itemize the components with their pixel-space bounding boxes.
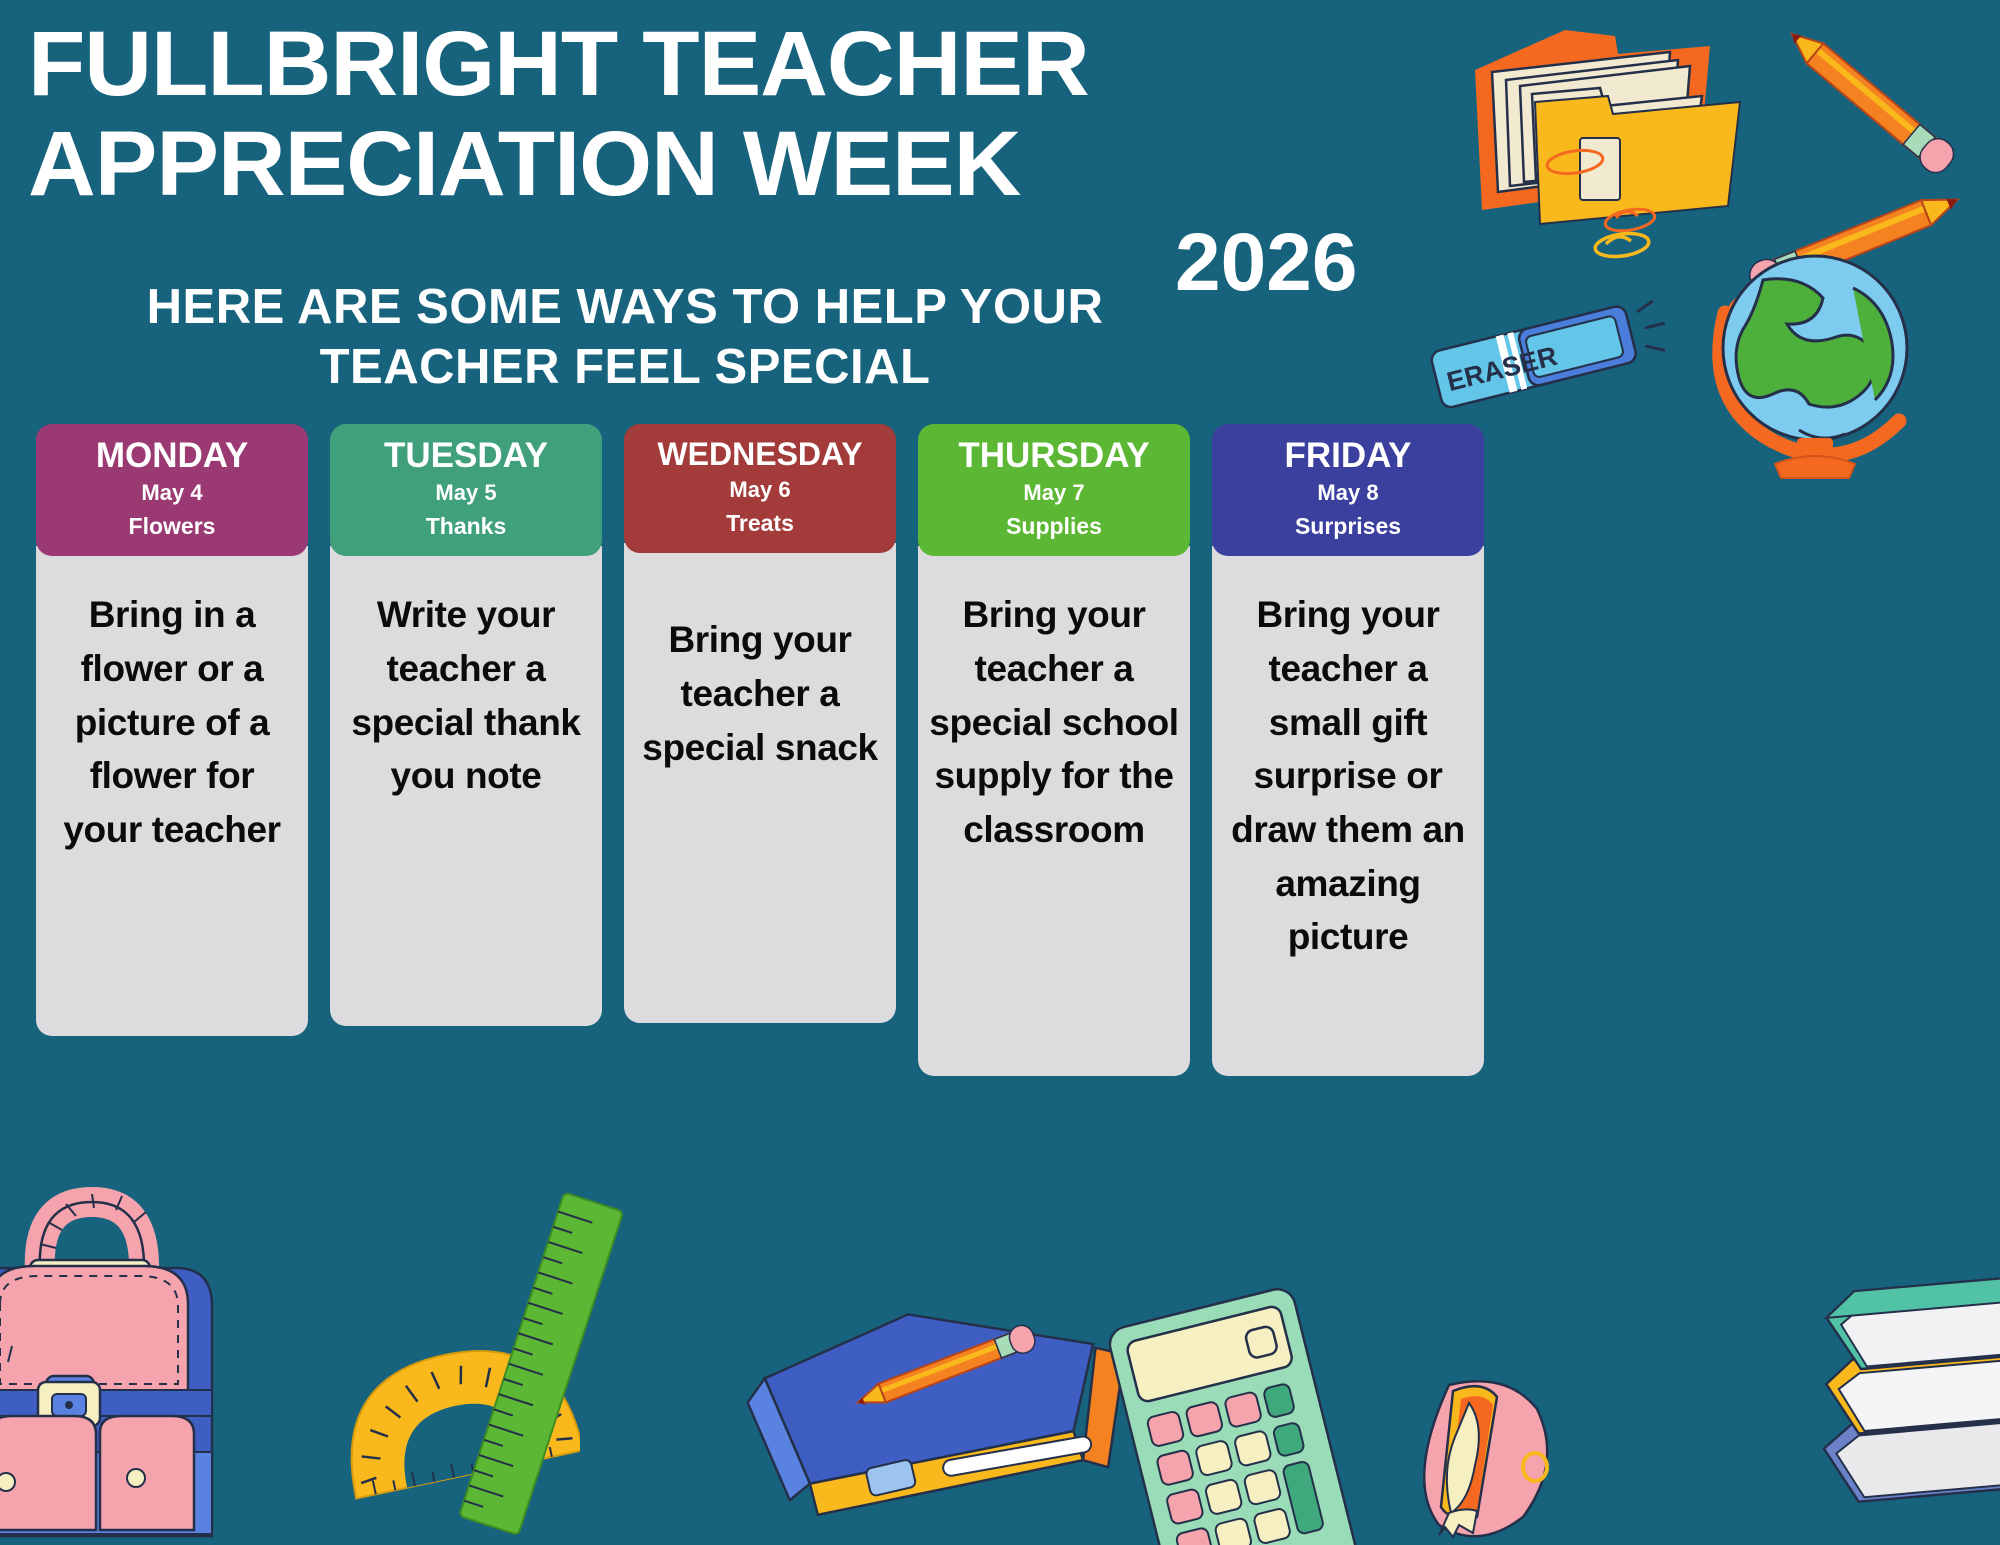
day-theme: Thanks <box>338 513 594 541</box>
day-date: May 5 <box>338 477 594 509</box>
day-date: May 8 <box>1220 477 1476 509</box>
sharpener-icon <box>1395 1355 1605 1545</box>
day-activity: Bring your teacher a special snack <box>624 543 896 1023</box>
calculator-icon <box>1100 1280 1410 1545</box>
backpack-icon <box>0 1152 300 1545</box>
day-card-wednesday[interactable]: WEDNESDAY May 6 Treats Bring your teache… <box>624 424 896 1076</box>
day-header-thursday: THURSDAY May 7 Supplies <box>918 424 1190 556</box>
pencil-icon <box>1700 25 2000 245</box>
day-name: MONDAY <box>44 438 300 473</box>
day-name: FRIDAY <box>1220 438 1476 473</box>
day-header-friday: FRIDAY May 8 Surprises <box>1212 424 1484 556</box>
day-date: May 4 <box>44 477 300 509</box>
day-activity: Write your teacher a special thank you n… <box>330 546 602 1026</box>
day-theme: Supplies <box>926 513 1182 541</box>
day-theme: Flowers <box>44 513 300 541</box>
folder-icon <box>1440 10 1840 270</box>
day-header-wednesday: WEDNESDAY May 6 Treats <box>624 424 896 553</box>
poster-canvas: ERASER <box>0 0 2000 1545</box>
day-theme: Treats <box>632 510 888 538</box>
day-card-friday[interactable]: FRIDAY May 8 Surprises Bring your teache… <box>1212 424 1484 1076</box>
day-card-tuesday[interactable]: TUESDAY May 5 Thanks Write your teacher … <box>330 424 602 1076</box>
day-name: TUESDAY <box>338 438 594 473</box>
poster-subtitle: HERE ARE SOME WAYS TO HELP YOUR TEACHER … <box>60 278 1190 398</box>
day-card-thursday[interactable]: THURSDAY May 7 Supplies Bring your teach… <box>918 424 1190 1076</box>
pencil-icon <box>1740 130 2000 330</box>
day-date: May 7 <box>926 477 1182 509</box>
week-schedule: MONDAY May 4 Flowers Bring in a flower o… <box>36 424 1966 1076</box>
day-name: WEDNESDAY <box>632 438 888 470</box>
day-name: THURSDAY <box>926 438 1182 473</box>
poster-headline: FULLBRIGHT TEACHER APPRECIATION WEEK <box>28 18 1328 212</box>
day-activity: Bring your teacher a small gift surprise… <box>1212 546 1484 1076</box>
book-stack-icon <box>1790 1250 2000 1545</box>
day-card-monday[interactable]: MONDAY May 4 Flowers Bring in a flower o… <box>36 424 308 1076</box>
title-line-2: APPRECIATION WEEK <box>28 118 1354 212</box>
day-activity: Bring your teacher a special school supp… <box>918 546 1190 1076</box>
day-theme: Surprises <box>1220 513 1476 541</box>
eraser-label: ERASER <box>1444 341 1560 397</box>
title-line-1: FULLBRIGHT TEACHER <box>28 18 1354 112</box>
day-header-tuesday: TUESDAY May 5 Thanks <box>330 424 602 556</box>
protractor-icon <box>330 1230 580 1545</box>
day-header-monday: MONDAY May 4 Flowers <box>36 424 308 556</box>
pencil-case-icon <box>740 1270 1160 1545</box>
eraser-icon: ERASER <box>1415 290 1685 430</box>
ruler-icon <box>430 1185 660 1545</box>
poster-year: 2026 <box>1175 222 1357 304</box>
day-activity: Bring in a flower or a picture of a flow… <box>36 546 308 1036</box>
day-date: May 6 <box>632 474 888 506</box>
